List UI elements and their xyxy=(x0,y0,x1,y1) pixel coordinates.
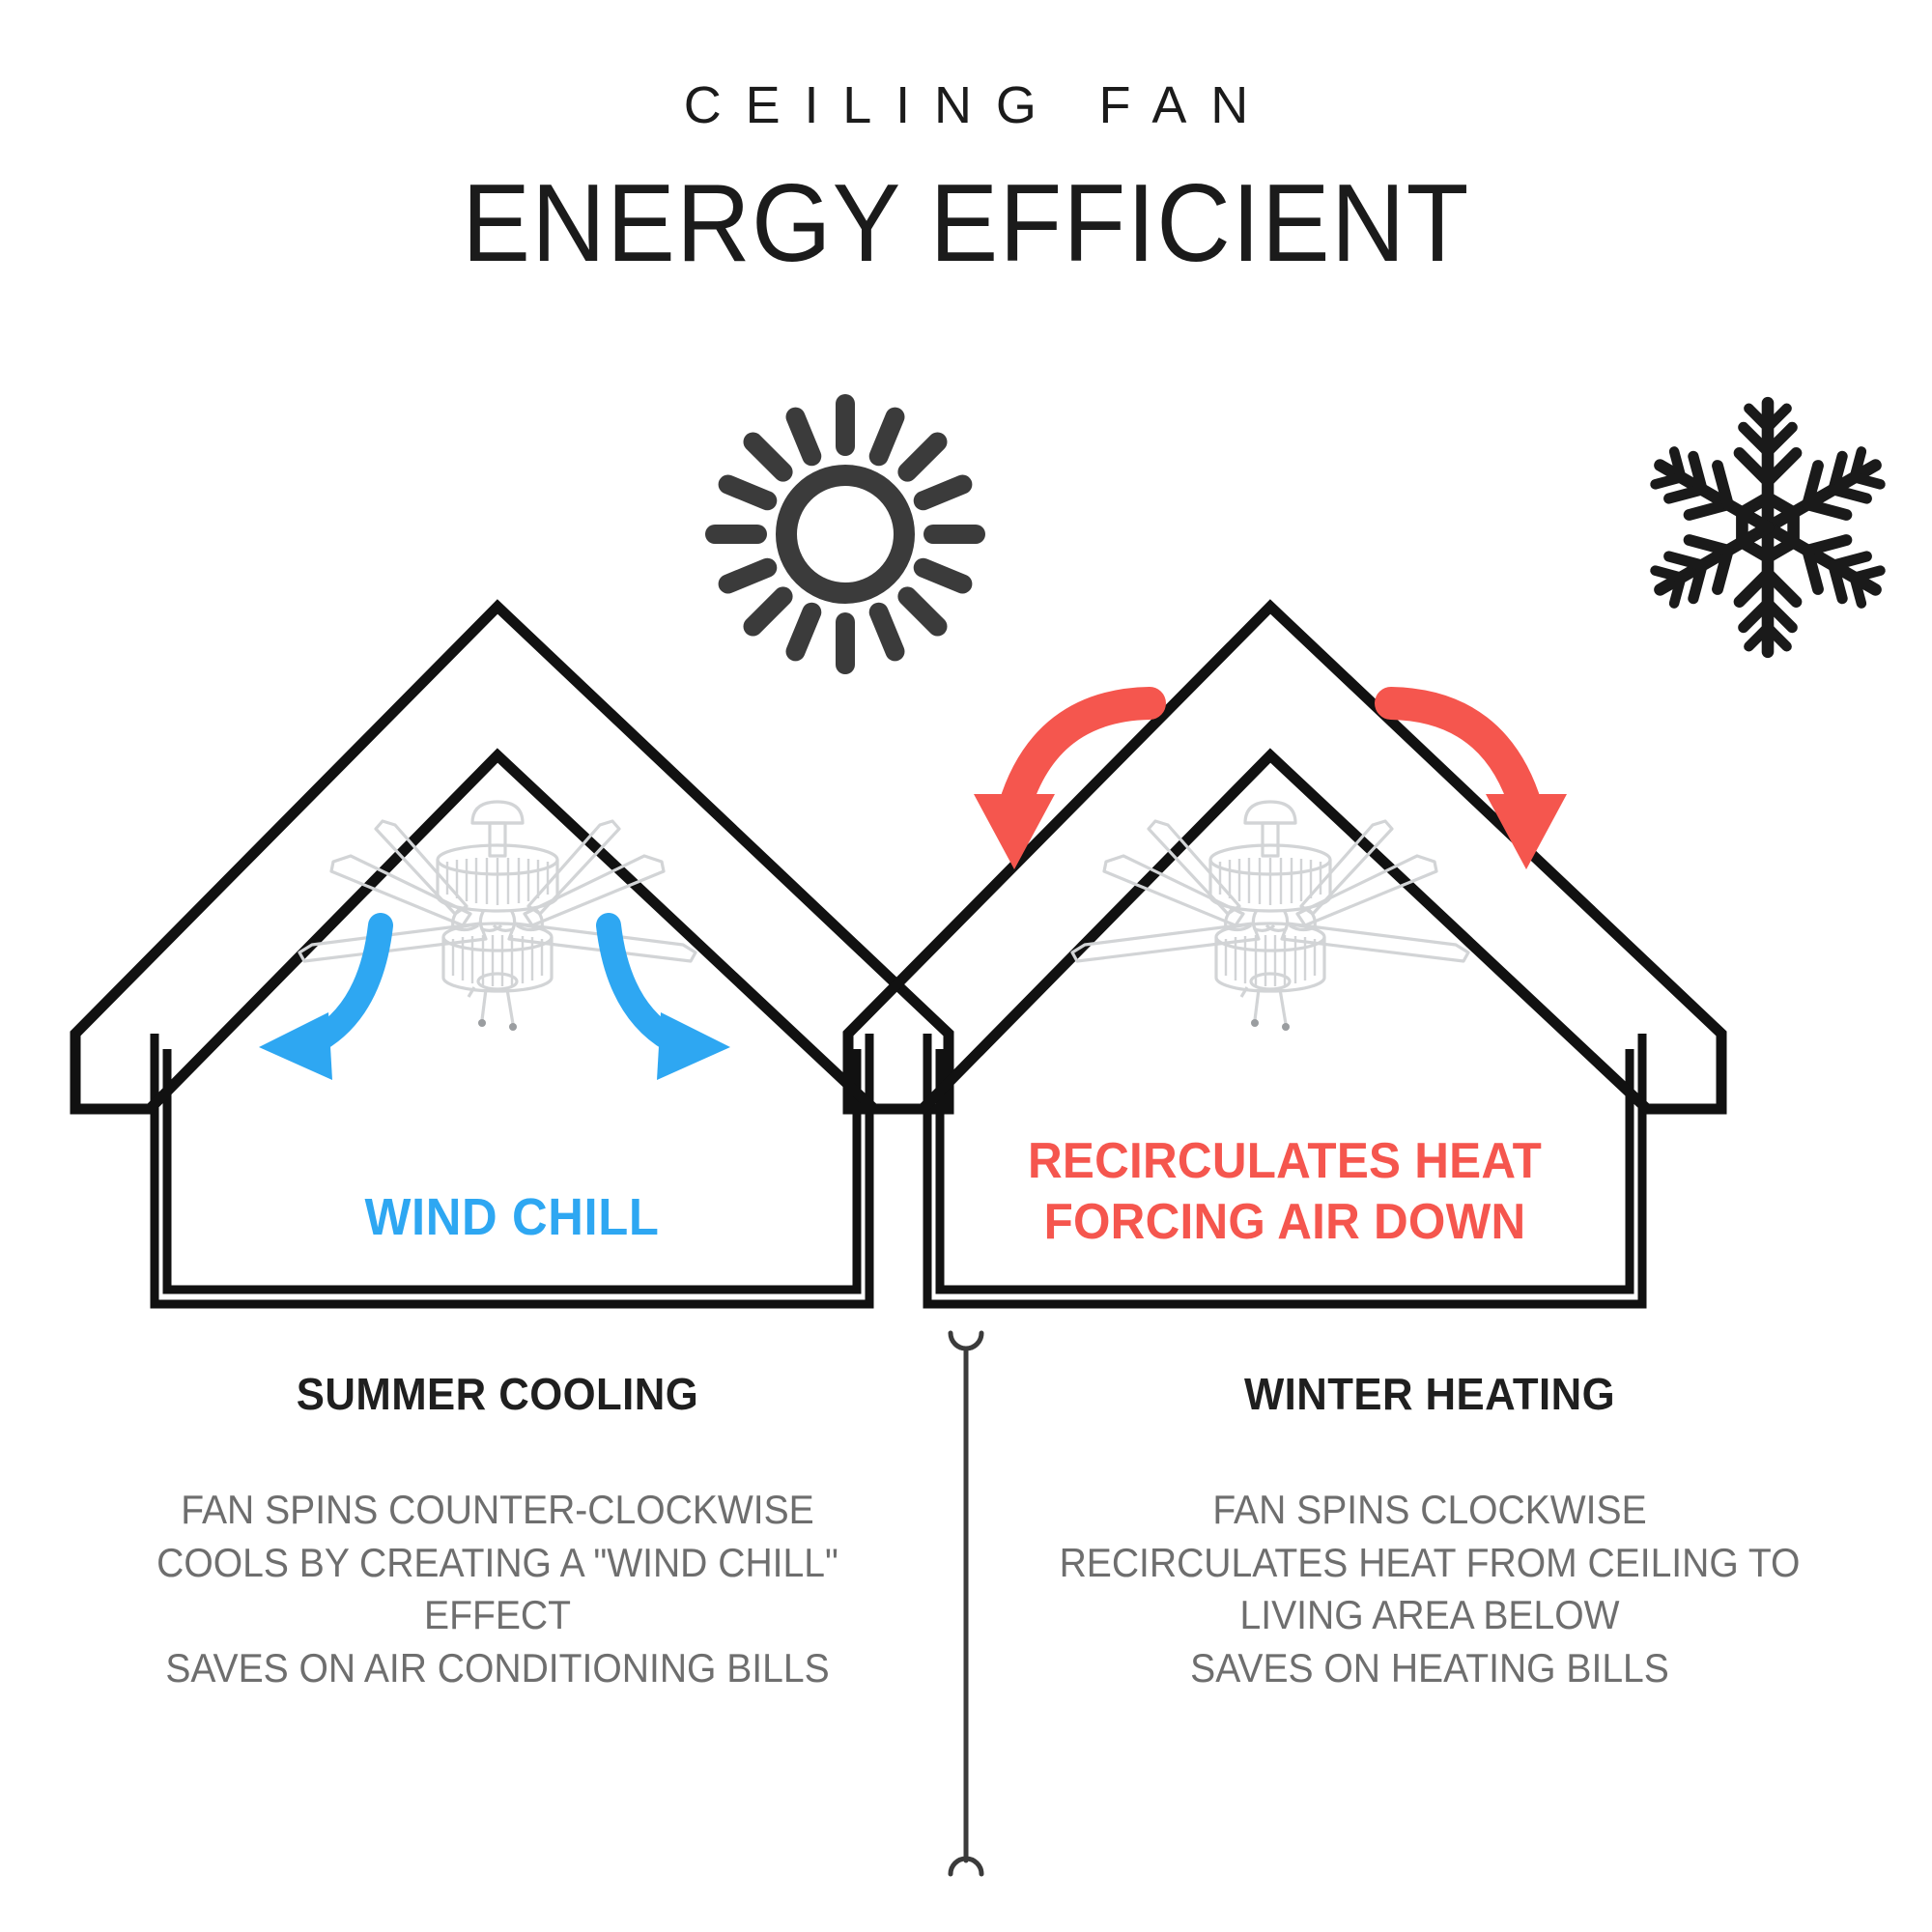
winter-body-line-2: RECIRCULATES HEAT FROM CEILING TO xyxy=(1008,1537,1852,1590)
house-walls xyxy=(155,1034,869,1304)
house-roof xyxy=(75,607,949,1109)
winter-airflow-label: RECIRCULATES HEAT FORCING AIR DOWN xyxy=(854,1135,1717,1249)
summer-body-line-4: SAVES ON AIR CONDITIONING BILLS xyxy=(75,1642,920,1695)
curved-arrow-right-icon xyxy=(609,925,730,1080)
winter-airflow-label-line2: FORCING AIR DOWN xyxy=(854,1196,1717,1249)
summer-body-line-2: COOLS BY CREATING A "WIND CHILL" xyxy=(75,1537,920,1590)
ceiling-fan-icon xyxy=(1072,802,1468,1031)
winter-heading: WINTER HEATING xyxy=(999,1372,1861,1416)
summer-body: FAN SPINS COUNTER-CLOCKWISE COOLS BY CRE… xyxy=(75,1484,920,1694)
winter-body-line-1: FAN SPINS CLOCKWISE xyxy=(1008,1484,1852,1537)
winter-column: WINTER HEATING FAN SPINS CLOCKWISE RECIR… xyxy=(976,1372,1884,1694)
winter-body-line-4: SAVES ON HEATING BILLS xyxy=(1008,1642,1852,1695)
house-roof xyxy=(848,607,1721,1109)
airflow-arrows-summer xyxy=(259,925,730,1080)
summer-column: SUMMER COOLING FAN SPINS COUNTER-CLOCKWI… xyxy=(43,1372,952,1694)
summer-heading: SUMMER COOLING xyxy=(67,1372,929,1416)
winter-body-line-3: LIVING AREA BELOW xyxy=(1008,1589,1852,1642)
page-title: ENERGY EFFICIENT xyxy=(68,169,1864,279)
infographic-canvas: CEILING FAN ENERGY EFFICIENT xyxy=(0,0,1932,1932)
curved-arrow-left-icon xyxy=(259,925,381,1080)
summer-airflow-label: WIND CHILL xyxy=(85,1190,939,1245)
curved-arrow-down-right-icon xyxy=(1391,703,1567,869)
curved-arrow-down-left-icon xyxy=(974,703,1150,869)
winter-body: FAN SPINS CLOCKWISE RECIRCULATES HEAT FR… xyxy=(1008,1484,1852,1694)
summer-body-line-1: FAN SPINS COUNTER-CLOCKWISE xyxy=(75,1484,920,1537)
summer-body-line-3: EFFECT xyxy=(75,1589,920,1642)
page-eyebrow-title: CEILING FAN xyxy=(0,79,1932,131)
winter-airflow-label-line1: RECIRCULATES HEAT xyxy=(1028,1133,1542,1189)
